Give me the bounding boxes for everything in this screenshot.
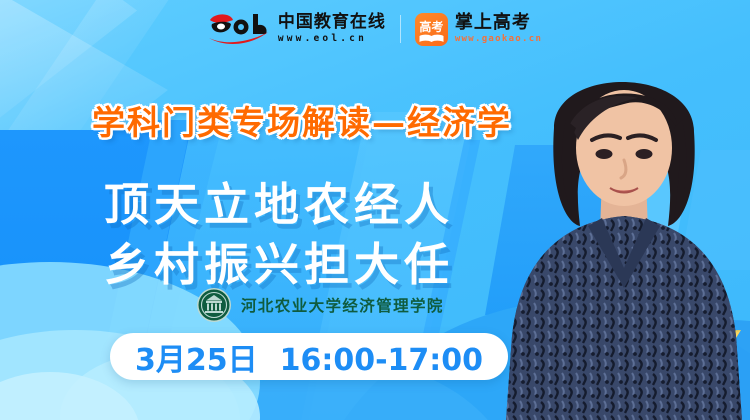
schedule-date: 3月25日 xyxy=(135,335,258,379)
schedule-badge: 3月25日 16:00-17:00 xyxy=(110,333,508,380)
school-name: 河北农业大学经济管理学院 xyxy=(241,294,444,316)
headline-line-1: 顶天立地农经人 xyxy=(74,168,484,233)
school-credit: 河北农业大学经济管理学院 xyxy=(196,287,444,323)
headline-line-2: 乡村振兴担大任 xyxy=(74,228,484,293)
header-divider xyxy=(400,15,401,43)
gaokao-app-icon: 高考 xyxy=(415,13,448,46)
university-seal-icon xyxy=(196,287,232,323)
subject-title: 学科门类专场解读—经济学 xyxy=(62,96,542,144)
gaokao-url: www.gaokao.cn xyxy=(455,35,542,44)
gaokao-brand-cn: 掌上高考 xyxy=(455,14,542,32)
eol-logo-icon xyxy=(208,12,270,46)
live-stream-poster: 中国教育在线 www.eol.cn 高考 掌上高考 www.gaokao.cn … xyxy=(0,0,750,420)
eol-logo[interactable]: 中国教育在线 www.eol.cn xyxy=(208,12,386,46)
eol-brand-cn: 中国教育在线 xyxy=(278,14,386,31)
eol-url: www.eol.cn xyxy=(278,34,386,44)
eol-logo-text: 中国教育在线 www.eol.cn xyxy=(278,14,386,44)
schedule-text: 3月25日 16:00-17:00 xyxy=(135,335,483,379)
schedule-time: 16:00-17:00 xyxy=(280,343,483,378)
gaokao-badge-text: 高考 xyxy=(419,21,443,33)
gaokao-logo[interactable]: 高考 掌上高考 www.gaokao.cn xyxy=(415,13,542,46)
open-book-icon xyxy=(419,34,444,43)
gaokao-logo-text: 掌上高考 www.gaokao.cn xyxy=(455,14,542,44)
brand-header: 中国教育在线 www.eol.cn 高考 掌上高考 www.gaokao.cn xyxy=(0,12,750,46)
presenter-photo xyxy=(498,36,750,420)
